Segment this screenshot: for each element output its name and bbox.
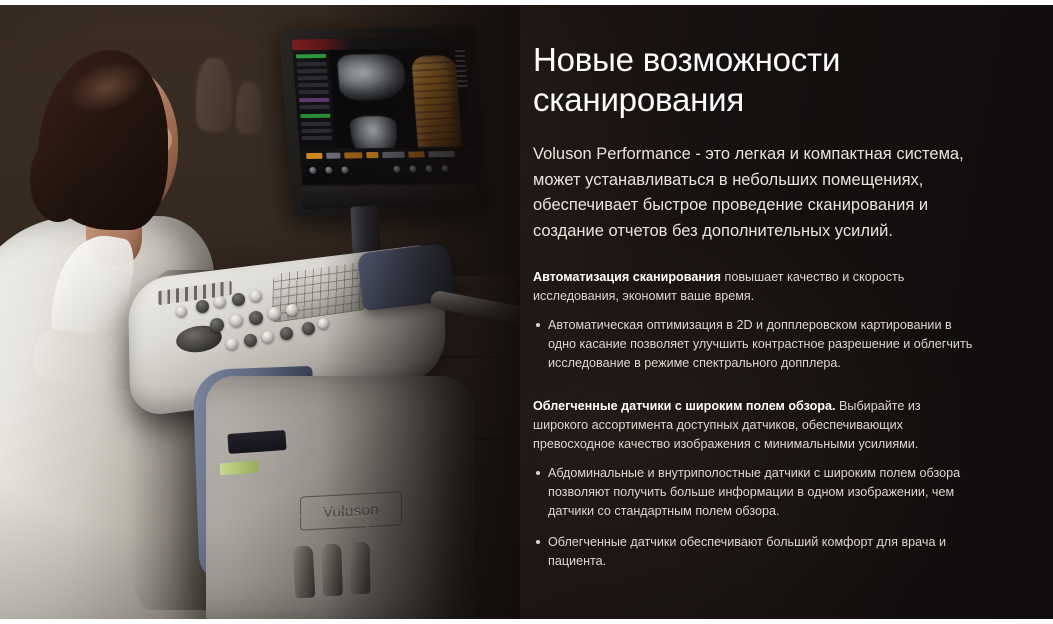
feature-paragraph: Облегченные датчики с широким полем обзо… [533,397,973,454]
screen-knob-indicator [325,167,333,174]
panel-knob [226,338,238,350]
panel-knob [196,300,209,313]
ultrasound-probe [350,542,371,594]
control-chip [326,153,340,159]
panel-knob [232,293,245,306]
panel-knob [214,296,226,308]
sidebar-row [302,136,332,140]
screen-knob-indicator [441,165,449,172]
feature-bullet-list: Автоматическая оптимизация в 2D и доппле… [533,316,973,373]
monitor-chin [301,185,479,209]
control-chip [408,151,424,157]
panel-knob [268,307,281,320]
panel-knob [244,334,257,347]
panel-knob [318,318,329,329]
sidebar-status-bar [300,114,330,118]
screen-knob-indicator [309,167,317,174]
list-item: Облегченные датчики обеспечивают больший… [533,533,973,571]
panel-knob [249,311,263,325]
list-item: Автоматическая оптимизация в 2D и доппле… [533,316,973,373]
intro-paragraph: Voluson Performance - это легкая и компа… [533,142,973,244]
bottom-trim-band [0,619,1053,624]
screen-control-strip [300,147,475,185]
screen-knob-indicator [393,166,401,173]
sidebar-row [299,98,329,102]
sidebar-row [298,90,328,94]
screen-title-bar [292,37,465,50]
panel-knob [280,327,293,340]
panel-knob [286,304,298,316]
sidebar-row [297,76,327,80]
control-chip [366,152,378,158]
screen-knob-indicator [425,165,433,172]
monitor-screen [292,37,475,185]
feature-section-probes: Облегченные датчики с широким полем обзо… [533,397,973,571]
ultrasound-probe [293,546,316,599]
panel-knob [262,331,274,343]
sidebar-row [296,62,326,66]
control-chip [382,152,404,158]
scan-image-2d [337,54,406,101]
feature-paragraph: Автоматизация сканирования повышает каче… [533,268,973,306]
screen-sidebar [293,50,336,149]
product-photograph: Voluson [0,0,520,624]
sidebar-status-bar [296,54,326,58]
panel-knob [230,314,243,327]
sidebar-row [298,83,328,87]
section-spacer [533,387,973,397]
list-item: Абдоминальные и внутриполостные датчики … [533,464,973,521]
page-title: Новые возможности сканирования [533,40,973,120]
control-chip [428,151,454,157]
panel-knob [302,322,315,335]
control-chip [306,153,322,159]
feature-bullet-list: Абдоминальные и внутриполостные датчики … [533,464,973,571]
panel-knob [250,290,262,302]
panel-knob [210,318,224,332]
marketing-slide: Voluson Новые возможности сканирования V… [0,0,1053,624]
ultrasound-monitor [279,27,489,217]
control-chip [344,152,362,158]
text-column: Новые возможности сканирования Voluson P… [533,40,973,571]
feature-lead-in: Автоматизация сканирования [533,270,721,284]
sidebar-row [297,69,327,73]
sidebar-row [300,105,330,109]
feature-section-automation: Автоматизация сканирования повышает каче… [533,268,973,373]
feature-lead-in: Облегченные датчики с широким полем обзо… [533,399,836,413]
panel-knob [176,306,187,317]
screen-knob-indicator [341,166,349,173]
sidebar-row [301,122,331,126]
top-trim-band [0,0,1053,5]
ultrasound-probe [321,544,343,597]
cart-storage-slot [227,430,286,454]
screen-knob-indicator [409,165,417,172]
sidebar-row [301,129,331,133]
